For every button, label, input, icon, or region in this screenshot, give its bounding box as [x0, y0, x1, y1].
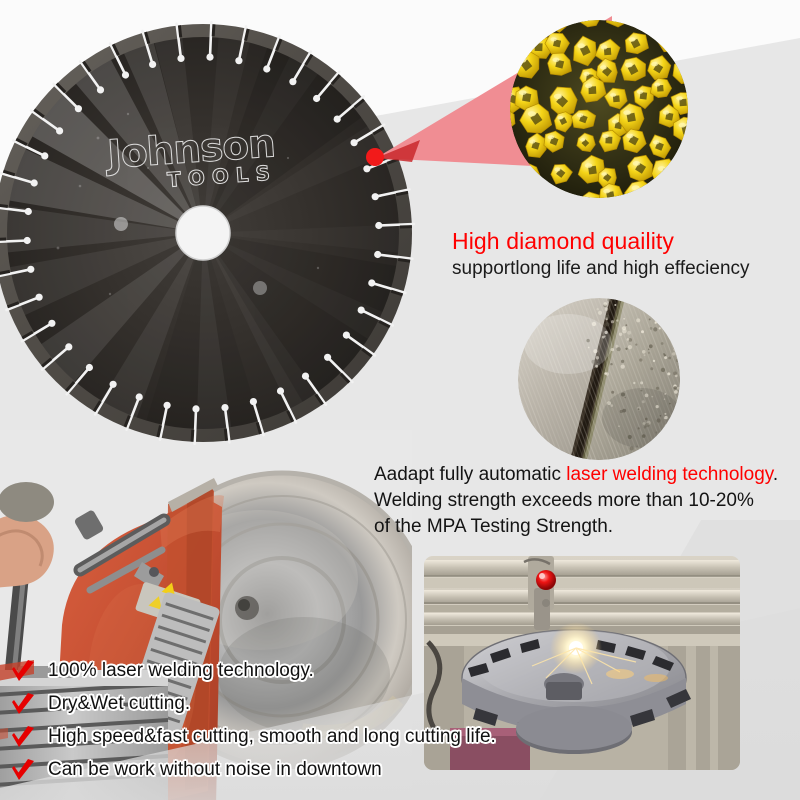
check-icon [10, 660, 36, 686]
headline-subtitle: supportlong life and high effeciency [452, 258, 750, 280]
product-feature-sheet: Johnson TOOLS [0, 0, 800, 800]
paragraph-line1-after: . [773, 464, 778, 485]
main-saw-blade: Johnson TOOLS [0, 18, 418, 450]
paragraph-line1-highlight: laser welding technology [566, 464, 773, 485]
paragraph-line1-before: Aadapt fully automatic [374, 464, 566, 485]
paragraph-line-2: Welding strength exceeds more than 10-20… [374, 488, 778, 514]
check-icon [10, 759, 36, 785]
feature-bullet-list: 100% laser welding technology. Dry&Wet c… [10, 658, 480, 790]
check-icon [10, 693, 36, 719]
list-item-label: High speed&fast cutting, smooth and long… [48, 726, 496, 748]
list-item-label: 100% laser welding technology. [48, 660, 314, 682]
list-item: Dry&Wet cutting. [10, 691, 480, 724]
inset-diamond-grit [510, 20, 688, 198]
inset-weld-seam [518, 298, 680, 460]
welding-paragraph: Aadapt fully automatic laser welding tec… [374, 462, 778, 540]
weld-seam-image [518, 298, 680, 460]
list-item-label: Can be work without noise in downtown [48, 759, 382, 781]
list-item: Can be work without noise in downtown [10, 757, 480, 790]
check-icon [10, 726, 36, 752]
list-item: 100% laser welding technology. [10, 658, 480, 691]
diamond-grit-pointer-dot [366, 148, 384, 166]
diamond-grit-image [510, 20, 688, 198]
saw-blade-illustration [0, 18, 418, 450]
list-item-label: Dry&Wet cutting. [48, 693, 190, 715]
paragraph-line-3: of the MPA Testing Strength. [374, 514, 778, 540]
paragraph-line-1: Aadapt fully automatic laser welding tec… [374, 462, 778, 488]
headline-title: High diamond quaility [452, 228, 674, 255]
list-item: High speed&fast cutting, smooth and long… [10, 724, 480, 757]
